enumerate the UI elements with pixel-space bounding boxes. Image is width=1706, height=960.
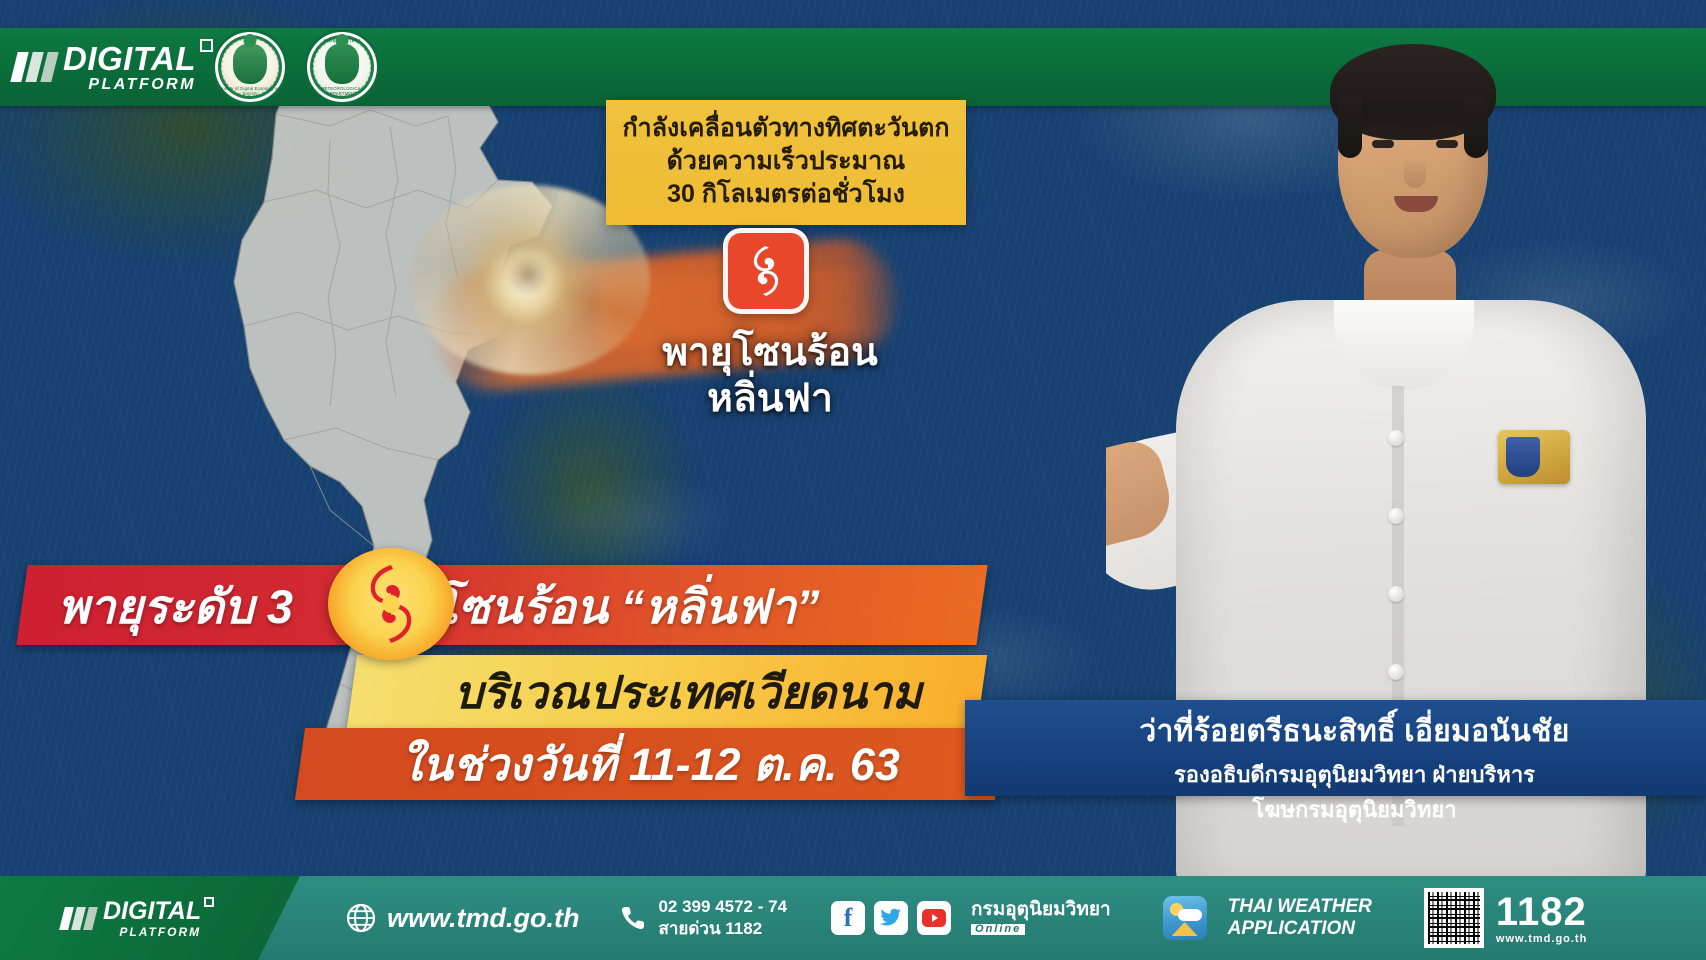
infobox-line-1: กำลังเคลื่อนตัวทางทิศตะวันตก	[620, 112, 952, 145]
cyclone-logo-icon	[328, 548, 454, 660]
presenter-button-2	[1388, 508, 1404, 524]
footer-logo-main-text: DIGITAL	[103, 899, 201, 924]
social-links: f กรมอุตุนิยมวิทยา Online	[831, 900, 1111, 937]
weather-app-icon	[1163, 896, 1207, 940]
hotline-number: 1182	[1496, 892, 1587, 932]
storm-type-label: โซนร้อน “หลิ่นฟา”	[433, 569, 820, 644]
presenter-eye-left	[1372, 140, 1394, 148]
twitter-icon[interactable]	[874, 901, 908, 935]
ministry-seal-caption: Ministry of Digital Economy and Society	[215, 87, 285, 97]
digital-platform-logo: DIGITAL PLATFORM	[14, 42, 196, 93]
qr-code-icon[interactable]	[1424, 888, 1484, 948]
storm-eye	[505, 255, 551, 295]
storm-movement-infobox: กำลังเคลื่อนตัวทางทิศตะวันตก ด้วยความเร็…	[606, 100, 966, 225]
ministry-seal-icon: Ministry of Digital Economy and Society	[212, 29, 288, 105]
logo-bars-icon	[10, 52, 58, 82]
website-link[interactable]: www.tmd.go.th	[346, 903, 579, 934]
phone-contact[interactable]: 02 399 4572 - 74 สายด่วน 1182	[619, 896, 787, 940]
infobox-line-2: ด้วยความเร็วประมาณ	[620, 145, 952, 178]
footer-logo-bars-icon	[59, 907, 98, 930]
storm-name-line-2: หลิ่นฟา	[600, 376, 940, 422]
footer-logo-square-icon	[204, 897, 214, 907]
presenter-button-4	[1388, 664, 1404, 680]
footer-digital-platform-logo: DIGITAL PLATFORM	[0, 876, 300, 960]
presenter-hair	[1330, 44, 1496, 140]
presenter-role-1: รองอธิบดีกรมอุตุนิยมวิทยา ฝ่ายบริหาร	[1025, 757, 1684, 792]
phone-number: 02 399 4572 - 74	[658, 896, 787, 918]
presenter-eye-right	[1436, 140, 1458, 148]
presenter-name: ว่าที่ร้อยตรีธนะสิทธิ์ เอี่ยมอนันชัย	[1025, 708, 1684, 755]
tmd-seal-icon: กรมอุตุนิยมวิทยา METEOROLOGICAL DEPARTME…	[304, 29, 380, 105]
presenter-nameplate: ว่าที่ร้อยตรีธนะสิทธิ์ เอี่ยมอนันชัย รอง…	[965, 700, 1706, 796]
presenter-button-1	[1388, 430, 1404, 446]
logo-square-icon	[200, 39, 213, 52]
phone-hotline: สายด่วน 1182	[658, 918, 787, 940]
headline-primary-text: พายุระดับ 3 โซนร้อน “หลิ่นฟา”	[52, 571, 972, 641]
infobox-line-3: 30 กิโลเมตรต่อชั่วโมง	[620, 178, 952, 211]
footer-logo-sub-text: PLATFORM	[103, 926, 201, 938]
presenter-nose	[1404, 158, 1426, 188]
app-name-line-1: THAI WEATHER	[1228, 896, 1372, 918]
storm-name-line-1: พายุโซนร้อน	[600, 330, 940, 376]
logo-sub-text: PLATFORM	[63, 77, 196, 93]
affected-area-label: บริเวณประเทศเวียดนาม	[398, 660, 978, 724]
presenter-lapel-emblem	[1498, 430, 1570, 484]
presenter-button-3	[1388, 586, 1404, 602]
cyclone-icon	[723, 228, 809, 314]
department-social-name: กรมอุตุนิยมวิทยา Online	[971, 900, 1111, 937]
logo-main-text: DIGITAL	[63, 42, 196, 75]
department-name-th: กรมอุตุนิยมวิทยา	[971, 900, 1111, 920]
hotline-info: 1182 www.tmd.go.th	[1496, 892, 1587, 945]
app-name-line-2: APPLICATION	[1228, 918, 1372, 940]
globe-icon	[346, 903, 376, 933]
storm-level-label: พายุระดับ 3	[58, 569, 293, 644]
weather-app-promo[interactable]: THAI WEATHER APPLICATION	[1163, 896, 1372, 941]
presenter-role-2: โฆษกรมอุตุนิยมวิทยา	[1025, 792, 1684, 827]
date-range-label: ในช่วงวันที่ 11-12 ต.ค. 63	[340, 733, 960, 795]
department-name-en: Online	[971, 924, 1025, 936]
hotline-website: www.tmd.go.th	[1496, 934, 1587, 945]
facebook-icon[interactable]: f	[831, 901, 865, 935]
broadcast-graphic: DIGITAL PLATFORM Ministry of Digital Eco…	[0, 0, 1706, 960]
footer-bar: DIGITAL PLATFORM www.tmd.go.th 02 399 45…	[0, 876, 1706, 960]
youtube-icon[interactable]	[917, 901, 951, 935]
tmd-seal-caption-en: METEOROLOGICAL DEPARTMENT	[307, 87, 377, 97]
website-url: www.tmd.go.th	[387, 903, 579, 934]
storm-name-label: พายุโซนร้อน หลิ่นฟา	[600, 330, 940, 422]
phone-icon	[619, 904, 647, 932]
